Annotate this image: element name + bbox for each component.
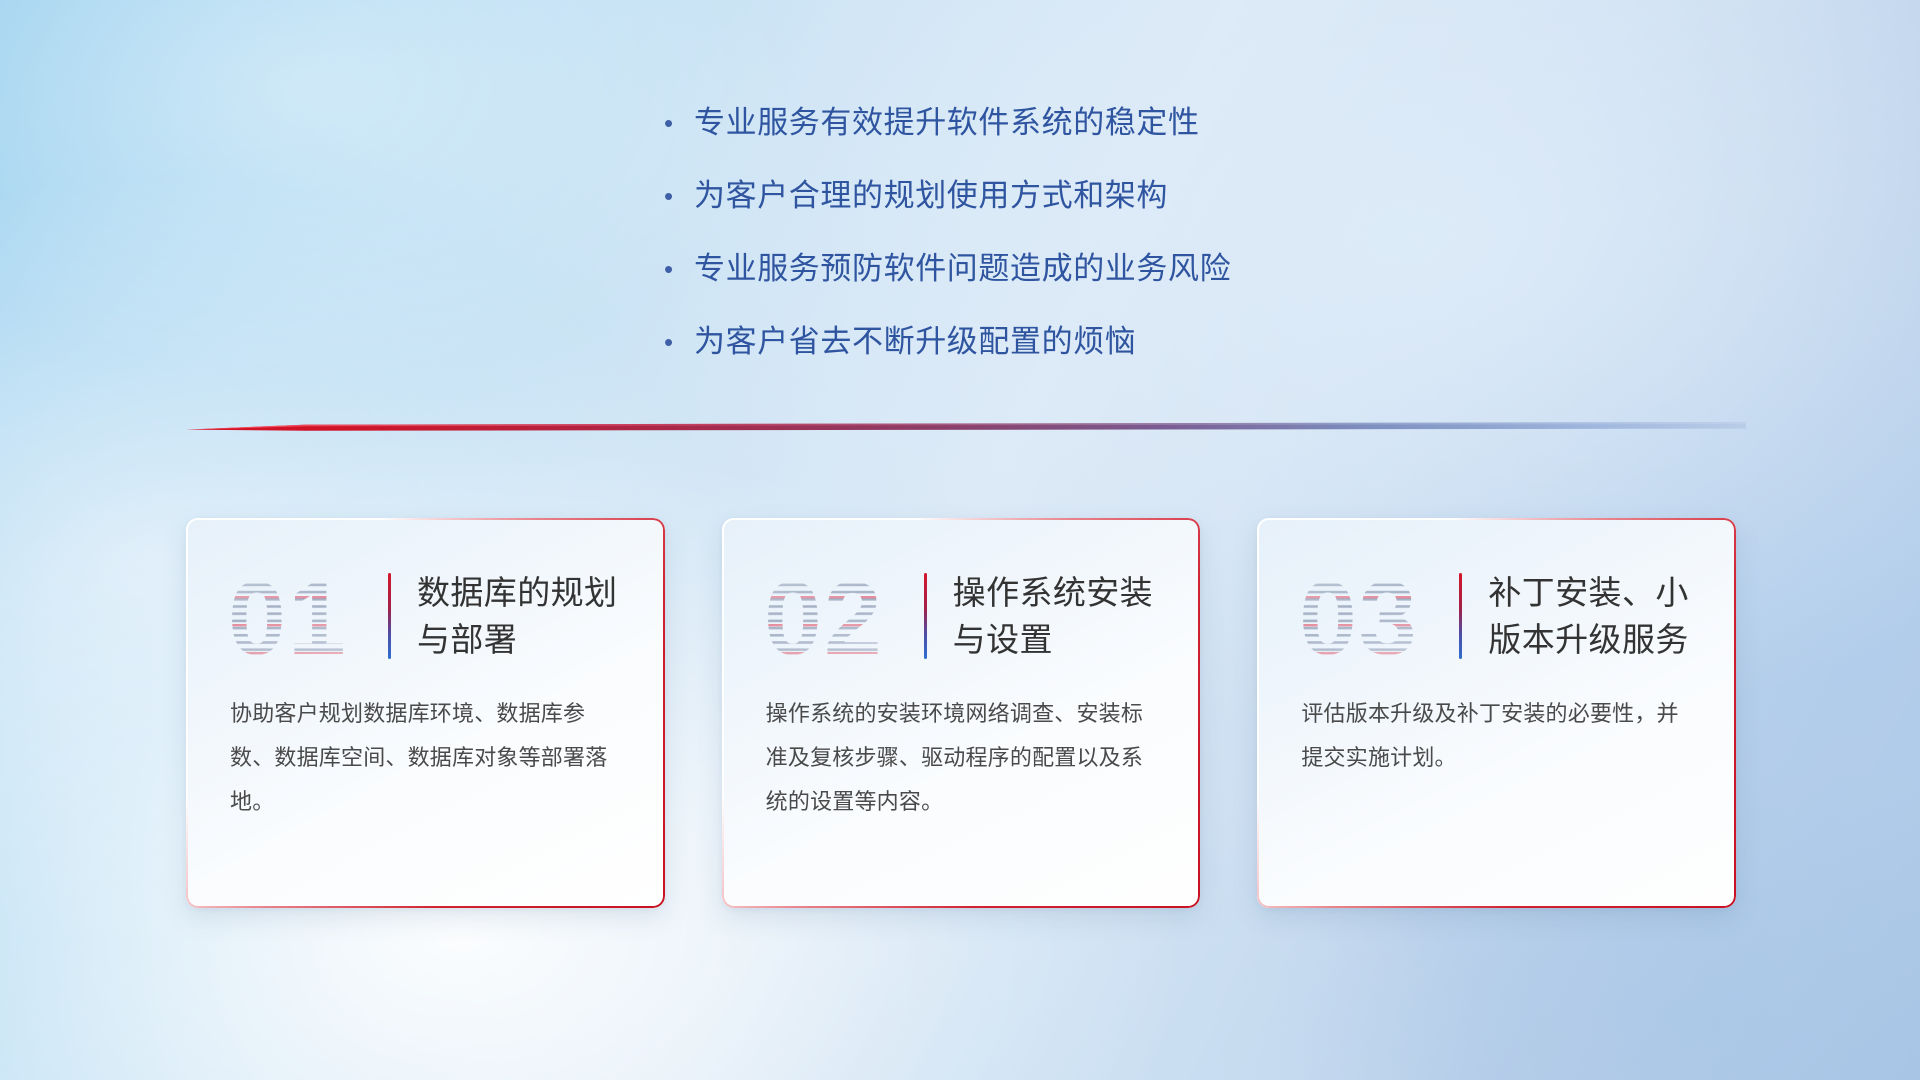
svg-text:02: 02 bbox=[764, 562, 884, 670]
card-header: 03 03 补丁安装、小版本升级服务 bbox=[1297, 562, 1696, 670]
bullet-dot-icon: • bbox=[660, 173, 694, 219]
section-divider bbox=[186, 420, 1746, 438]
bullet-text: 专业服务有效提升软件系统的稳定性 bbox=[694, 100, 1200, 146]
svg-text:01: 01 bbox=[228, 562, 348, 670]
card-header: 01 01 数据库的规划与部署 bbox=[226, 562, 625, 670]
card-description: 协助客户规划数据库环境、数据库参数、数据库空间、数据库对象等部署落地。 bbox=[226, 692, 625, 824]
striped-number-glyph: 01 01 bbox=[226, 562, 376, 670]
card-accent-rule bbox=[388, 573, 391, 659]
bullet-text: 为客户省去不断升级配置的烦恼 bbox=[694, 319, 1136, 365]
card-description: 评估版本升级及补丁安装的必要性，并提交实施计划。 bbox=[1297, 692, 1696, 780]
service-card[interactable]: 01 01 数据库的规划与部署 协助客户规划数据库环境、数据库参数、数据库空间、… bbox=[186, 518, 665, 908]
list-item: • 为客户省去不断升级配置的烦恼 bbox=[660, 319, 1480, 365]
bullet-dot-icon: • bbox=[660, 100, 694, 146]
svg-text:03: 03 bbox=[1299, 562, 1419, 670]
list-item: • 专业服务预防软件问题造成的业务风险 bbox=[660, 246, 1480, 292]
bullet-text: 专业服务预防软件问题造成的业务风险 bbox=[694, 246, 1231, 292]
benefits-bullet-list: • 专业服务有效提升软件系统的稳定性 • 为客户合理的规划使用方式和架构 • 专… bbox=[660, 100, 1480, 392]
card-number-striped-icon: 01 01 bbox=[226, 562, 376, 670]
list-item: • 专业服务有效提升软件系统的稳定性 bbox=[660, 100, 1480, 146]
card-accent-rule bbox=[924, 573, 927, 659]
card-header: 02 02 操作系统安装与设置 bbox=[762, 562, 1161, 670]
card-number-striped-icon: 03 03 bbox=[1297, 562, 1447, 670]
service-card-group: 01 01 数据库的规划与部署 协助客户规划数据库环境、数据库参数、数据库空间、… bbox=[186, 518, 1736, 908]
card-description: 操作系统的安装环境网络调查、安装标准及复核步骤、驱动程序的配置以及系统的设置等内… bbox=[762, 692, 1161, 824]
striped-number-glyph: 03 03 bbox=[1297, 562, 1447, 670]
card-number-striped-icon: 02 02 bbox=[762, 562, 912, 670]
divider-rule-icon bbox=[186, 420, 1746, 438]
striped-number-glyph: 02 02 bbox=[762, 562, 912, 670]
bullet-dot-icon: • bbox=[660, 246, 694, 292]
service-card[interactable]: 03 03 补丁安装、小版本升级服务 评估版本升级及补丁安装的必要性，并提交实施… bbox=[1257, 518, 1736, 908]
card-accent-rule bbox=[1459, 573, 1462, 659]
service-card[interactable]: 02 02 操作系统安装与设置 操作系统的安装环境网络调查、安装标准及复核步骤、… bbox=[722, 518, 1201, 908]
card-title: 数据库的规划与部署 bbox=[417, 569, 625, 663]
slide-canvas: • 专业服务有效提升软件系统的稳定性 • 为客户合理的规划使用方式和架构 • 专… bbox=[0, 0, 1920, 1080]
list-item: • 为客户合理的规划使用方式和架构 bbox=[660, 173, 1480, 219]
card-title: 补丁安装、小版本升级服务 bbox=[1488, 569, 1696, 663]
bullet-text: 为客户合理的规划使用方式和架构 bbox=[694, 173, 1168, 219]
card-title: 操作系统安装与设置 bbox=[953, 569, 1161, 663]
bullet-dot-icon: • bbox=[660, 319, 694, 365]
